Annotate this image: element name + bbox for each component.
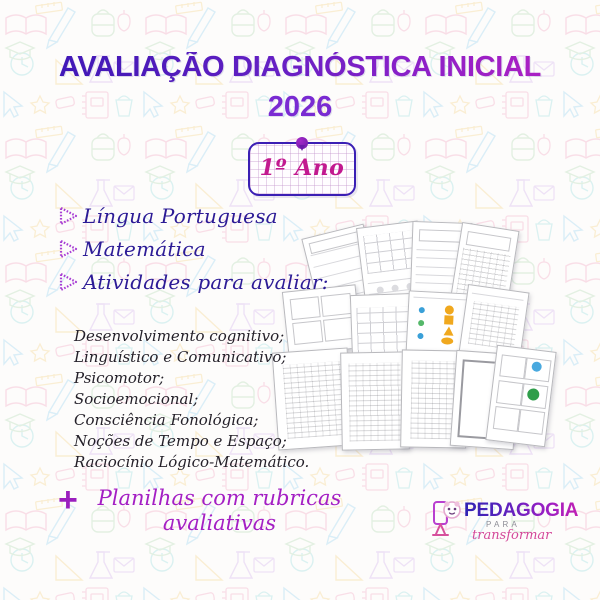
triangle-bullet-icon [58, 239, 75, 259]
list-item: Língua Portuguesa [58, 204, 329, 228]
list-item: Socioemocional; [74, 389, 309, 410]
skills-list: Desenvolvimento cognitivo; Linguístico e… [74, 326, 309, 473]
list-item: Matemática [58, 237, 329, 261]
extra-offer-block: + Planilhas com rubricas avaliativas [58, 486, 358, 536]
worksheet-page [485, 345, 556, 448]
brand-logo: PEDAGOGIA PARA transformar [430, 494, 560, 550]
logo-script-text: transformar [472, 528, 551, 543]
list-item: Desenvolvimento cognitivo; [74, 326, 309, 347]
pin-icon [296, 137, 308, 149]
extra-line-2: avaliativas [163, 511, 276, 535]
flyer-canvas: AVALIAÇÃO DIAGNÓSTICA INICIAL 2026 1º An… [0, 0, 600, 600]
page-title: AVALIAÇÃO DIAGNÓSTICA INICIAL [0, 52, 600, 83]
grade-badge-label: 1º Ano [260, 155, 345, 181]
list-item: Noções de Tempo e Espaço; [74, 431, 309, 452]
subject-label: Matemática [83, 237, 206, 261]
list-item: Atividades para avaliar: [58, 270, 329, 294]
triangle-bullet-icon [58, 272, 75, 292]
pencil-character-icon [430, 498, 464, 542]
header-block: AVALIAÇÃO DIAGNÓSTICA INICIAL 2026 [0, 52, 600, 124]
plus-icon: + [58, 486, 78, 515]
subject-list: Língua Portuguesa Matemática Atividades … [58, 204, 329, 303]
logo-brand-text: PEDAGOGIA [464, 500, 578, 522]
list-item: Linguístico e Comunicativo; [74, 347, 309, 368]
triangle-bullet-icon [58, 206, 75, 226]
list-item: Raciocínio Lógico-Matemático. [74, 452, 309, 473]
list-item: Psicomotor; [74, 368, 309, 389]
list-item: Consciência Fonológica; [74, 410, 309, 431]
grade-badge: 1º Ano [248, 142, 356, 196]
extra-line-1: Planilhas com rubricas [98, 486, 342, 510]
page-year: 2026 [0, 91, 600, 124]
subject-label: Língua Portuguesa [83, 204, 278, 228]
subject-label: Atividades para avaliar: [83, 270, 329, 294]
